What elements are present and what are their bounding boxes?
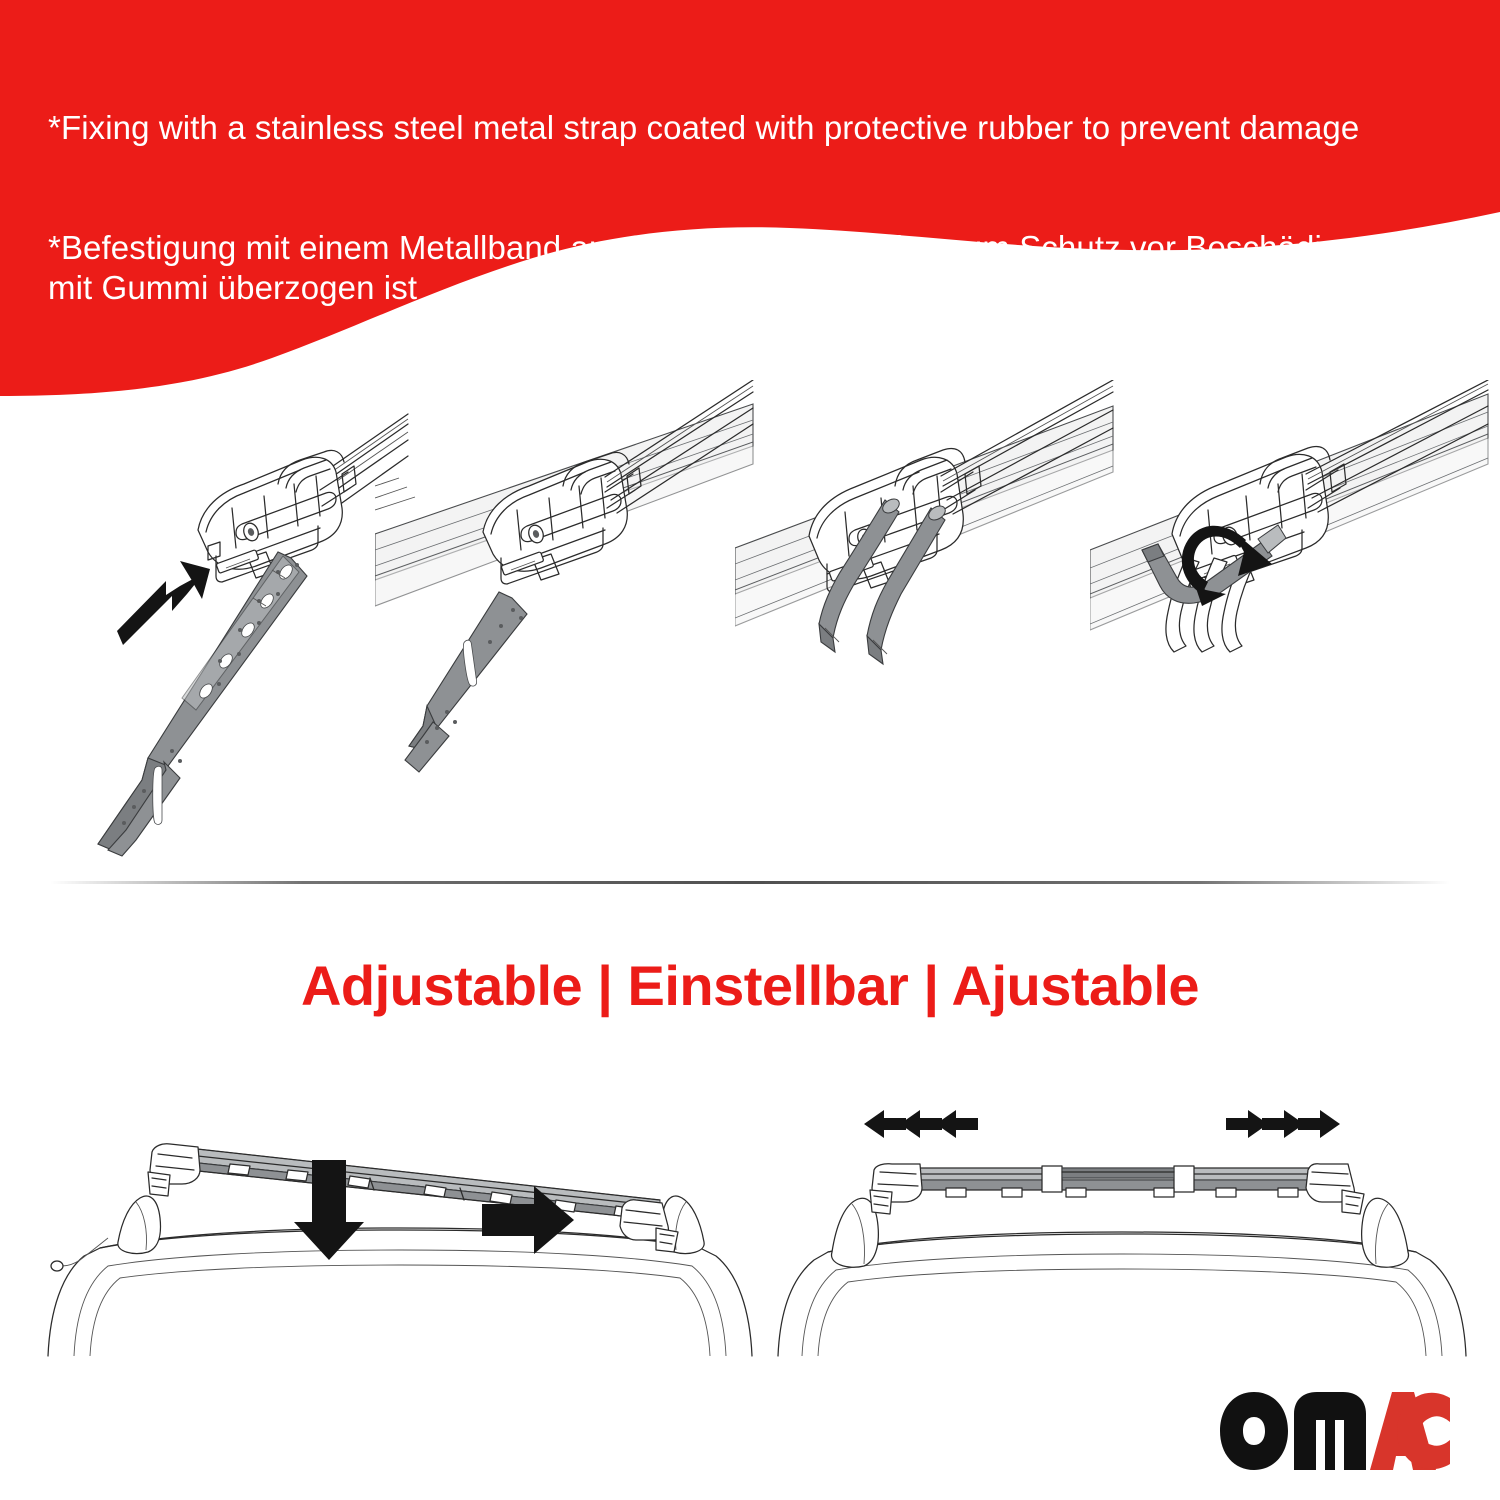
- omac-logo: [1218, 1392, 1450, 1470]
- metal-strap: [405, 592, 527, 772]
- header-banner: *Fixing with a stainless steel metal str…: [0, 0, 1500, 400]
- crossbar-foot-left: [870, 1164, 922, 1214]
- adjust-diagram-right: [770, 1080, 1470, 1360]
- logo-om-dark: [1220, 1392, 1366, 1470]
- car-roof: [778, 1232, 1466, 1356]
- roof-rail-left: [118, 1196, 161, 1254]
- crossbar-foot-right: [1306, 1164, 1364, 1214]
- step-4-illustration: [1090, 380, 1490, 860]
- triple-right-arrow: [1226, 1110, 1340, 1138]
- header-line-de: *Befestigung mit einem Metallband aus ro…: [48, 228, 1458, 308]
- install-step-3: [735, 380, 1115, 860]
- insert-direction-arrow: [117, 561, 210, 645]
- crossbar: [870, 1164, 1364, 1214]
- install-steps-row: [0, 380, 1500, 860]
- crossbar-foot-left: [148, 1144, 200, 1196]
- section-title: Adjustable | Einstellbar | Ajustable: [0, 953, 1500, 1018]
- install-step-1: [20, 380, 410, 860]
- tether-cable: [51, 1238, 108, 1271]
- infographic-root: *Fixing with a stainless steel metal str…: [0, 0, 1500, 1500]
- step-3-illustration: [735, 380, 1115, 860]
- step-1-illustration: [20, 380, 410, 860]
- triple-left-arrow: [864, 1110, 978, 1138]
- section-divider: [50, 881, 1450, 884]
- roof-rail-right: [1362, 1198, 1409, 1267]
- install-step-4: [1090, 380, 1490, 860]
- omac-logo-mark: [1218, 1392, 1450, 1470]
- lower-crossbar-illustration: [40, 1060, 760, 1360]
- step-2-illustration: [375, 380, 755, 860]
- mounted-crossbar-illustration: [770, 1080, 1470, 1360]
- adjustability-row: [0, 1060, 1500, 1360]
- header-line-en: *Fixing with a stainless steel metal str…: [48, 108, 1458, 148]
- roof-rack-foot: [483, 380, 753, 584]
- logo-ac-red: [1370, 1392, 1450, 1470]
- install-step-2: [375, 380, 755, 860]
- adjust-diagram-left: [40, 1060, 760, 1360]
- metal-strap: [98, 552, 307, 856]
